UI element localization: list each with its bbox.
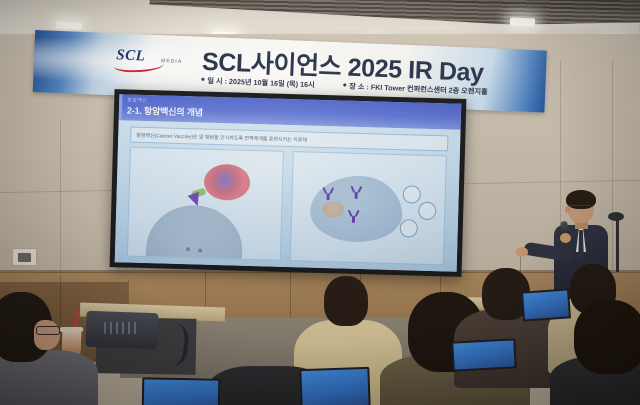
scl-logo-subtext: MEDIA [161, 58, 182, 65]
molecule-circle [402, 185, 420, 203]
presentation-slide: 항암백신 2-1. 항암백신의 개념 SCL사이언스 항암백신(Cancer V… [115, 94, 462, 271]
laptop [451, 338, 516, 371]
slide-body: 항암백신(Cancer Vaccine)은 암 항원을 인식하도록 면역체계를 … [115, 120, 461, 271]
ceiling-light [56, 21, 82, 29]
laptop-screen [301, 369, 368, 405]
bag-print [104, 322, 138, 334]
slide-accent-bar [119, 94, 123, 120]
antibody-icon [348, 210, 359, 223]
tumor-cell-shape [146, 204, 243, 259]
list-item [560, 300, 640, 405]
scl-logo: SCL MEDIA [116, 47, 191, 70]
presenter-hand [516, 247, 528, 257]
mic-stand [616, 218, 619, 272]
molecule-circle [400, 219, 418, 237]
mic-stand-head [608, 212, 624, 221]
presenter-glasses [570, 205, 590, 211]
laptop [521, 288, 571, 321]
slide-callout-text: 항암백신(Cancer Vaccine)은 암 항원을 인식하도록 면역체계를 … [136, 131, 307, 143]
projection-screen: 항암백신 2-1. 항암백신의 개념 SCL사이언스 항암백신(Cancer V… [110, 89, 467, 277]
slide-panel-left [127, 147, 284, 261]
presenter-mic-hand [560, 233, 571, 243]
slide-title: 2-1. 항암백신의 개념 [127, 103, 203, 118]
laptop-screen [144, 379, 219, 405]
laptop-screen [453, 340, 514, 369]
laptop [142, 377, 221, 405]
bullet-icon [201, 78, 204, 81]
wall-outlet [12, 248, 37, 266]
attendee-head [324, 276, 368, 326]
scl-logo-swoosh-icon [114, 58, 164, 73]
list-item [0, 288, 96, 405]
antigen-blob [204, 164, 251, 201]
molecule-circle [418, 202, 436, 220]
conference-room-photo: SCL MEDIA SCL사이언스 2025 IR Day 일 시 : 2025… [0, 0, 640, 405]
laptop [299, 367, 370, 405]
antibody-icon [323, 187, 334, 200]
bullet-icon [343, 83, 346, 86]
slide-panel-right [290, 151, 447, 265]
attendee-face [34, 320, 60, 350]
antibody-icon [351, 186, 362, 199]
laptop-screen [523, 290, 569, 319]
ceiling-light [510, 17, 535, 26]
attendee-glasses [36, 326, 60, 335]
attendee-head [574, 300, 640, 374]
